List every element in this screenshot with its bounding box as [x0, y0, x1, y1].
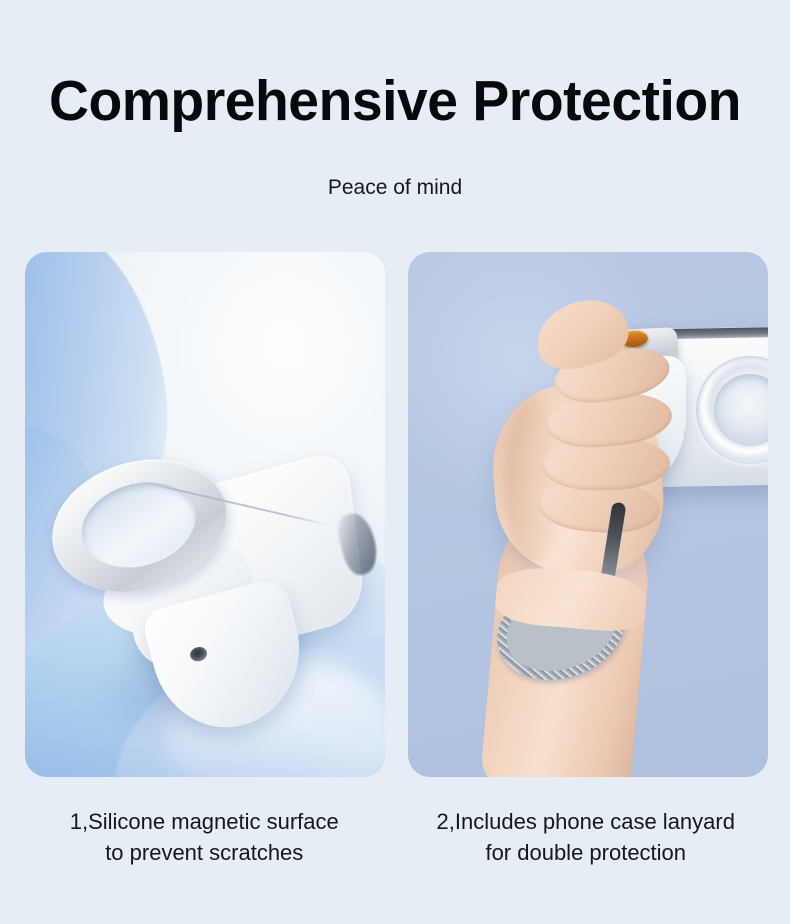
- caption-line-2: for double protection: [407, 837, 766, 868]
- caption-line-1: 2,Includes phone case lanyard: [407, 806, 766, 837]
- caption-silicone-magnetic-surface: 1,Silicone magnetic surface to prevent s…: [25, 806, 384, 868]
- product-camera-grip-image: [30, 404, 385, 742]
- page-subtitle: Peace of mind: [0, 176, 790, 200]
- page-title: Comprehensive Protection: [12, 72, 778, 132]
- feature-panel-phone-case-lanyard: TELESIN: [408, 252, 768, 777]
- caption-phone-case-lanyard: 2,Includes phone case lanyard for double…: [407, 806, 766, 868]
- caption-line-1: 1,Silicone magnetic surface: [25, 806, 384, 837]
- feature-panels: TELESIN: [25, 252, 765, 777]
- caption-line-2: to prevent scratches: [25, 837, 384, 868]
- hand-holding-grip-image: [408, 252, 768, 777]
- panel-captions: 1,Silicone magnetic surface to prevent s…: [25, 806, 765, 868]
- feature-panel-silicone-magnetic-surface: [25, 252, 385, 777]
